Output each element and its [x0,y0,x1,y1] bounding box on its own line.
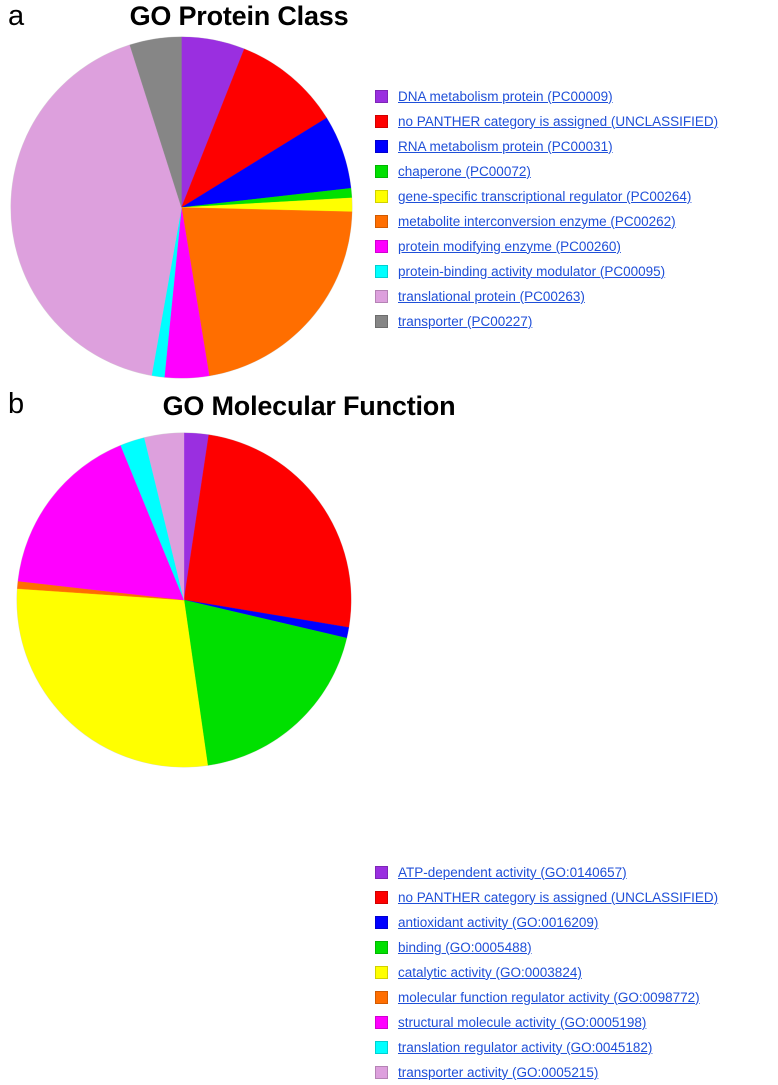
legend-item-label[interactable]: binding (GO:0005488) [398,941,532,955]
panel-title-b: GO Molecular Function [0,391,698,422]
panel-title-a: GO Protein Class [0,1,628,32]
color-swatch-icon [375,941,388,954]
legend-item[interactable]: no PANTHER category is assigned (UNCLASS… [375,885,718,910]
color-swatch-icon [375,240,388,253]
legend-item-label[interactable]: no PANTHER category is assigned (UNCLASS… [398,115,718,129]
legend-item-label[interactable]: ATP-dependent activity (GO:0140657) [398,866,627,880]
legend-item[interactable]: metabolite interconversion enzyme (PC002… [375,209,718,234]
legend-item[interactable]: transporter activity (GO:0005215) [375,1060,718,1085]
legend-item-label[interactable]: structural molecule activity (GO:0005198… [398,1016,646,1030]
legend-go-molecular-function: ATP-dependent activity (GO:0140657)no PA… [375,860,718,1085]
color-swatch-icon [375,891,388,904]
legend-item-label[interactable]: RNA metabolism protein (PC00031) [398,140,613,154]
legend-item-label[interactable]: catalytic activity (GO:0003824) [398,966,582,980]
legend-item-label[interactable]: gene-specific transcriptional regulator … [398,190,691,204]
legend-item[interactable]: no PANTHER category is assigned (UNCLASS… [375,109,718,134]
legend-item[interactable]: antioxidant activity (GO:0016209) [375,910,718,935]
legend-item-label[interactable]: translational protein (PC00263) [398,290,585,304]
legend-item[interactable]: translational protein (PC00263) [375,284,718,309]
color-swatch-icon [375,165,388,178]
legend-item[interactable]: protein modifying enzyme (PC00260) [375,234,718,259]
legend-item-label[interactable]: protein modifying enzyme (PC00260) [398,240,621,254]
pie-slice[interactable]: catalytic activity (GO:0003824) [17,589,208,767]
pie-svg-a: DNA metabolism protein (PC00009)no PANTH… [10,36,353,379]
legend-item-label[interactable]: molecular function regulator activity (G… [398,991,700,1005]
color-swatch-icon [375,90,388,103]
color-swatch-icon [375,1066,388,1079]
color-swatch-icon [375,966,388,979]
pie-chart-go-molecular-function: ATP-dependent activity (GO:0140657)no PA… [16,432,352,768]
legend-item-label[interactable]: antioxidant activity (GO:0016209) [398,916,598,930]
color-swatch-icon [375,315,388,328]
legend-item[interactable]: gene-specific transcriptional regulator … [375,184,718,209]
legend-item[interactable]: catalytic activity (GO:0003824) [375,960,718,985]
color-swatch-icon [375,1016,388,1029]
pie-chart-go-protein-class: DNA metabolism protein (PC00009)no PANTH… [10,36,353,379]
legend-item-label[interactable]: protein-binding activity modulator (PC00… [398,265,665,279]
legend-item-label[interactable]: chaperone (PC00072) [398,165,531,179]
legend-go-protein-class: DNA metabolism protein (PC00009)no PANTH… [375,84,718,334]
legend-item-label[interactable]: no PANTHER category is assigned (UNCLASS… [398,891,718,905]
color-swatch-icon [375,265,388,278]
legend-item[interactable]: chaperone (PC00072) [375,159,718,184]
color-swatch-icon [375,991,388,1004]
legend-item[interactable]: transporter (PC00227) [375,309,718,334]
legend-item-label[interactable]: metabolite interconversion enzyme (PC002… [398,215,676,229]
color-swatch-icon [375,916,388,929]
legend-item[interactable]: RNA metabolism protein (PC00031) [375,134,718,159]
legend-item[interactable]: ATP-dependent activity (GO:0140657) [375,860,718,885]
legend-item[interactable]: translation regulator activity (GO:00451… [375,1035,718,1060]
legend-item[interactable]: structural molecule activity (GO:0005198… [375,1010,718,1035]
pie-svg-b: ATP-dependent activity (GO:0140657)no PA… [16,432,352,768]
color-swatch-icon [375,215,388,228]
panel-go-protein-class: a GO Protein Class DNA metabolism protei… [0,0,778,388]
color-swatch-icon [375,115,388,128]
legend-item-label[interactable]: translation regulator activity (GO:00451… [398,1041,652,1055]
legend-item[interactable]: binding (GO:0005488) [375,935,718,960]
legend-item-label[interactable]: transporter (PC00227) [398,315,532,329]
legend-item[interactable]: molecular function regulator activity (G… [375,985,718,1010]
legend-item[interactable]: DNA metabolism protein (PC00009) [375,84,718,109]
color-swatch-icon [375,866,388,879]
pie-slice[interactable]: metabolite interconversion enzyme (PC002… [182,208,352,376]
color-swatch-icon [375,140,388,153]
panel-go-molecular-function: b GO Molecular Function ATP-dependent ac… [0,388,778,776]
color-swatch-icon [375,190,388,203]
legend-item-label[interactable]: DNA metabolism protein (PC00009) [398,90,613,104]
legend-item[interactable]: protein-binding activity modulator (PC00… [375,259,718,284]
color-swatch-icon [375,1041,388,1054]
color-swatch-icon [375,290,388,303]
pie-slice[interactable]: no PANTHER category is assigned (UNCLASS… [184,435,351,628]
legend-item-label[interactable]: transporter activity (GO:0005215) [398,1066,598,1080]
